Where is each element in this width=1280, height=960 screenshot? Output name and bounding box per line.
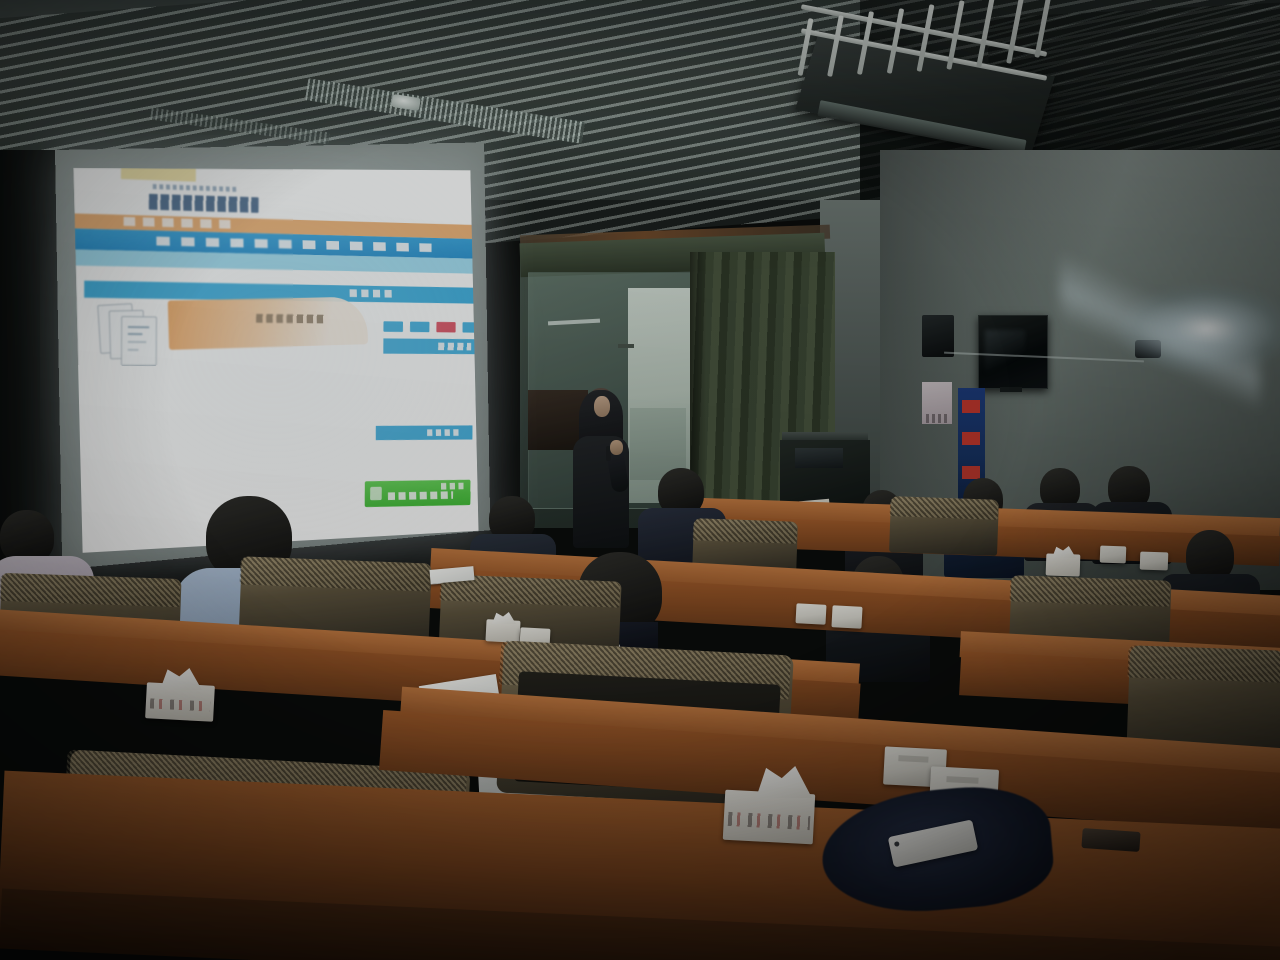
doc-line-2 bbox=[128, 333, 143, 335]
form-document-icon-front bbox=[121, 316, 157, 366]
poster-text-lines bbox=[926, 414, 948, 423]
slide-ribbon-text bbox=[256, 314, 324, 324]
slide-ribbon-banner bbox=[168, 297, 368, 350]
white-carton-box bbox=[1140, 552, 1169, 571]
slide-sidebar-text bbox=[438, 343, 471, 351]
poster-badge-2 bbox=[962, 432, 980, 445]
carton-label bbox=[946, 776, 978, 784]
projection-screen bbox=[73, 168, 478, 553]
white-carton-box bbox=[1100, 546, 1127, 564]
ceiling-projector bbox=[795, 0, 1095, 175]
chair-mesh-back bbox=[890, 496, 999, 520]
doc-line-4 bbox=[128, 349, 139, 351]
doc-line-1 bbox=[128, 326, 149, 328]
carton-label bbox=[898, 755, 928, 763]
chair-mesh-back bbox=[693, 518, 798, 544]
white-carton-box bbox=[795, 603, 826, 625]
slide-secondary-bar-text bbox=[427, 429, 458, 436]
desk-fitting bbox=[1081, 828, 1140, 852]
presenter-face bbox=[594, 396, 610, 417]
cage-post-8 bbox=[1006, 0, 1025, 64]
section-heading-text bbox=[350, 289, 397, 297]
presenter-hand bbox=[610, 440, 623, 455]
slide-tab-group[interactable] bbox=[383, 321, 478, 333]
site-subtitle-text bbox=[153, 184, 238, 192]
white-carton-box bbox=[831, 605, 862, 629]
tv-screen-reflection bbox=[985, 330, 1025, 375]
slide-tab-2[interactable] bbox=[410, 322, 429, 333]
site-title-text bbox=[149, 194, 259, 213]
conference-room-photo bbox=[0, 0, 1280, 960]
door-handle bbox=[618, 344, 634, 348]
slide-tab-1[interactable] bbox=[383, 321, 403, 332]
presenter bbox=[565, 388, 637, 548]
lens-flare-beam bbox=[1060, 250, 1260, 420]
wall-speaker bbox=[922, 315, 954, 357]
slide-action-button-note bbox=[441, 483, 464, 490]
phone-camera-icon bbox=[894, 841, 900, 847]
slide-action-button-label bbox=[388, 491, 453, 500]
cage-post-7 bbox=[976, 0, 995, 68]
doc-line-3 bbox=[128, 341, 146, 343]
slide-tab-3[interactable] bbox=[436, 322, 455, 333]
slide-highlight-tab bbox=[121, 168, 196, 182]
poster-badge-3 bbox=[962, 466, 980, 479]
tv-mount-bracket bbox=[1000, 387, 1022, 392]
download-icon bbox=[370, 487, 382, 501]
cage-post-9 bbox=[1034, 0, 1052, 58]
poster-badge-1 bbox=[962, 400, 980, 413]
av-equipment-unit bbox=[795, 448, 843, 468]
slide-content bbox=[73, 168, 478, 553]
chair-mesh-back bbox=[1127, 645, 1280, 682]
chair-mesh-back bbox=[1010, 575, 1171, 607]
